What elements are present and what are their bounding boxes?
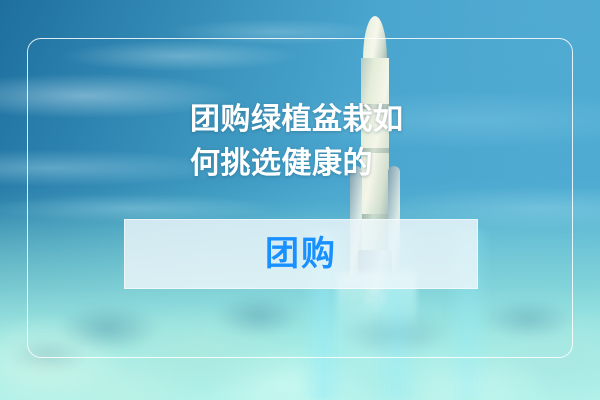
tag-bar[interactable]: 团购 <box>124 219 478 289</box>
promo-banner-canvas: 团购绿植盆栽如 何挑选健康的 团购 <box>0 0 600 400</box>
headline-text: 团购绿植盆栽如 何挑选健康的 <box>190 98 520 186</box>
background-image-rocket-launch <box>0 0 600 400</box>
tag-bar-label: 团购 <box>265 237 337 271</box>
rocket-nose-cone <box>363 16 387 62</box>
